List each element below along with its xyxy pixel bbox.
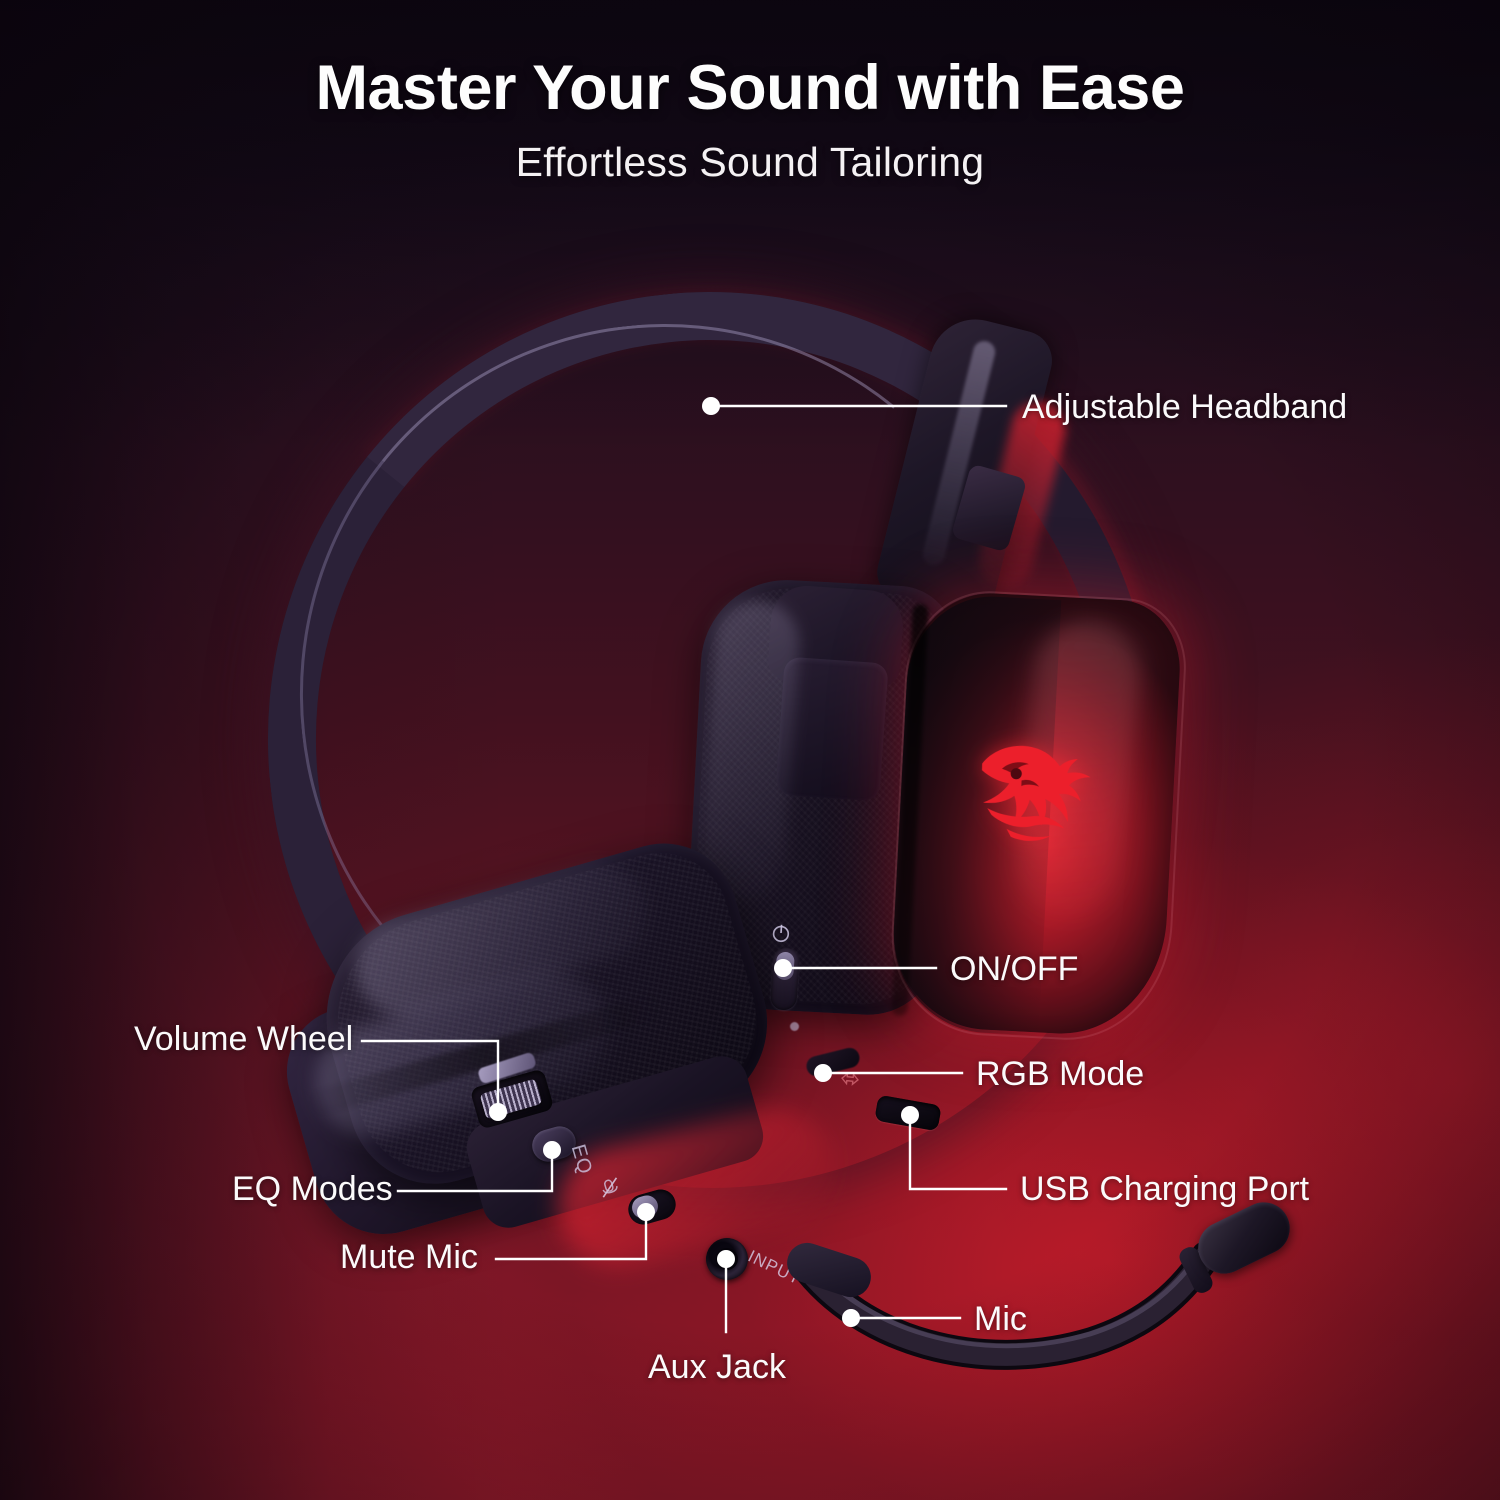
power-icon bbox=[769, 921, 792, 944]
power-switch-knob[interactable] bbox=[775, 951, 795, 980]
callout-label-rgb-mode: RGB Mode bbox=[976, 1055, 1144, 1094]
status-led bbox=[790, 1022, 799, 1031]
page-title: Master Your Sound with Ease bbox=[0, 52, 1500, 124]
page-subtitle: Effortless Sound Tailoring bbox=[0, 139, 1500, 186]
callout-label-eq-modes: EQ Modes bbox=[232, 1170, 393, 1209]
callout-label-mic: Mic bbox=[974, 1300, 1027, 1339]
callout-label-aux-jack: Aux Jack bbox=[648, 1348, 786, 1387]
callout-label-volume-wheel: Volume Wheel bbox=[134, 1020, 353, 1059]
callout-label-usb-charging-port: USB Charging Port bbox=[1020, 1170, 1309, 1209]
dragon-head-icon bbox=[960, 730, 1100, 857]
callout-label-adjustable-headband: Adjustable Headband bbox=[1022, 388, 1347, 427]
headset-product-image: EQ INPUT bbox=[0, 0, 1500, 1500]
callout-label-on-off: ON/OFF bbox=[950, 950, 1078, 989]
infographic-canvas: EQ INPUT Master Your Sound with Ease Eff… bbox=[0, 0, 1500, 1500]
callout-label-mute-mic: Mute Mic bbox=[340, 1238, 478, 1277]
rgb-lighting-icon bbox=[837, 1069, 863, 1089]
